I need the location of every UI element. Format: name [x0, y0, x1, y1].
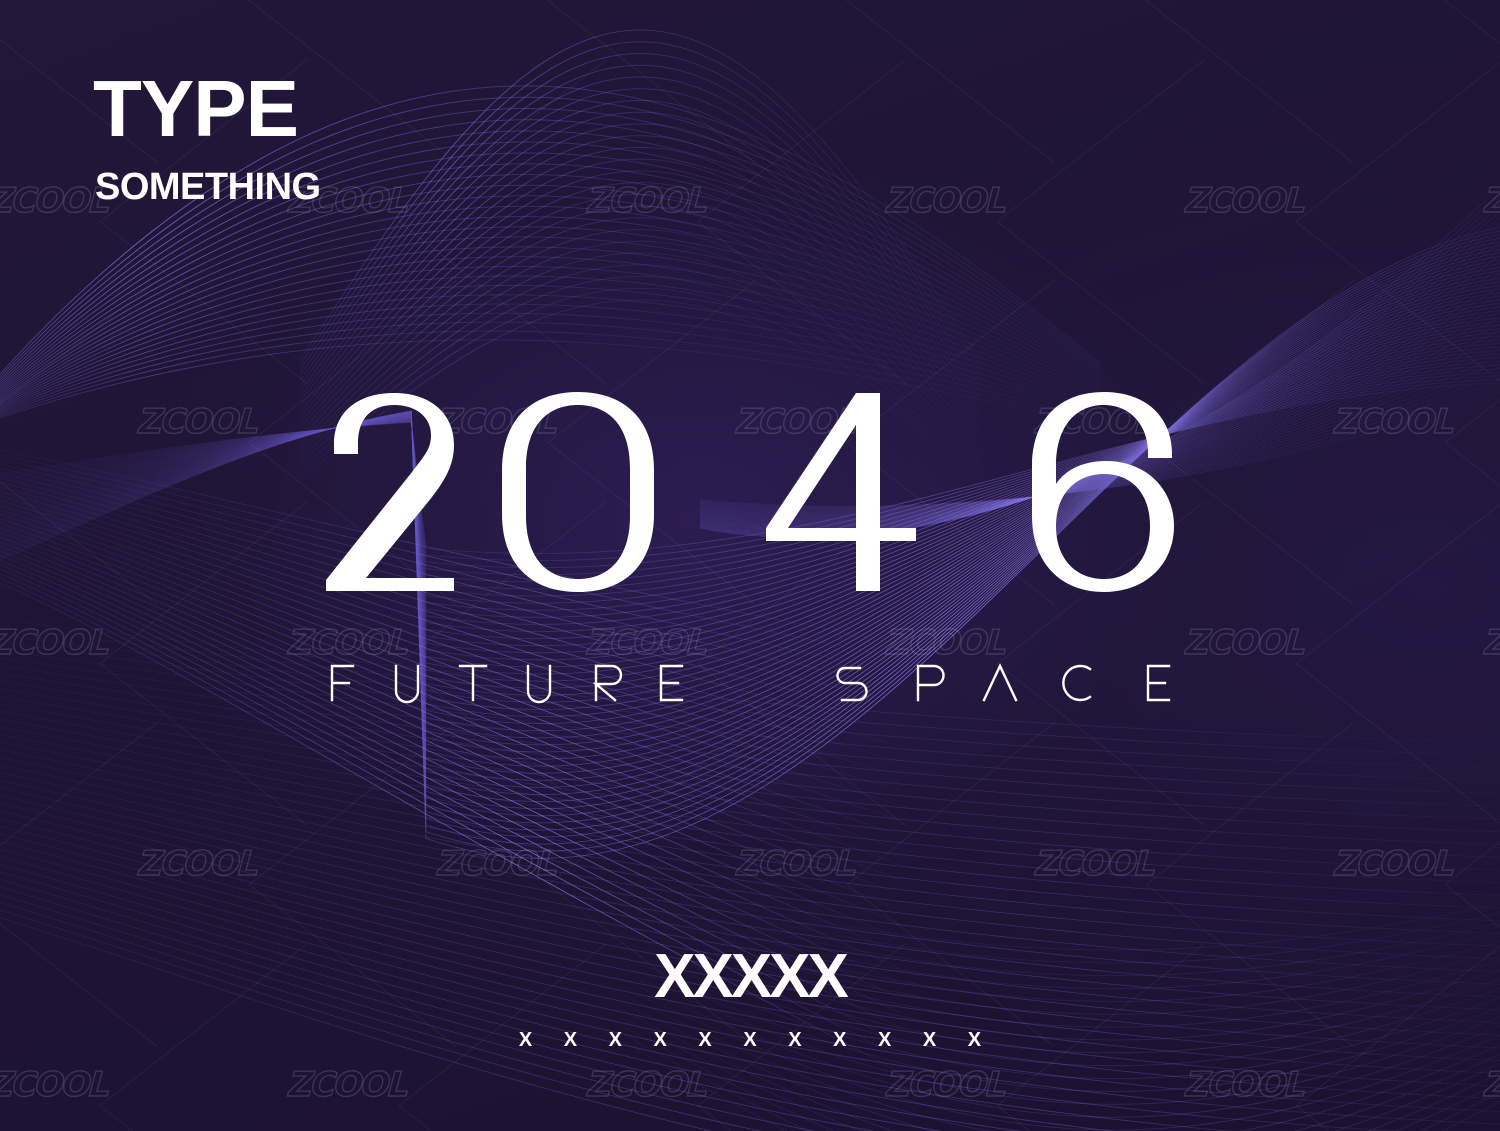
tagline-letter-A: [984, 666, 1016, 700]
tagline-letter-U: [396, 666, 418, 702]
tagline-letter-P: [918, 666, 944, 700]
tagline-letter-T: [460, 666, 486, 700]
brand-block: TYPE SOMETHING: [93, 76, 321, 206]
tagline-future-space: [324, 658, 1176, 706]
tagline-block: [0, 658, 1500, 706]
poster-canvas: ZCOOLZCOOLZCOOLZCOOLZCOOLZCOOLZCOOLZCOOL…: [0, 0, 1500, 1131]
hero-year-block: [0, 392, 1500, 592]
brand-subtitle: SOMETHING: [95, 168, 321, 206]
tagline-letter-U2: [528, 666, 550, 702]
tagline-letter-C: [1063, 666, 1090, 700]
footer-block: XXXXX X X X X X X X X X X X: [0, 946, 1500, 1050]
tagline-letter-E2: [1148, 666, 1169, 700]
tagline-letter-F: [332, 666, 353, 700]
tagline-letter-R: [596, 666, 621, 700]
footer-sub-text: X X X X X X X X X X X: [13, 1030, 1500, 1050]
brand-title: TYPE: [93, 76, 321, 142]
hero-year-2046: [320, 392, 1180, 592]
tagline-letter-E: [661, 666, 682, 700]
tagline-letter-S: [838, 668, 867, 700]
footer-main-text: XXXXX: [0, 946, 1500, 1008]
